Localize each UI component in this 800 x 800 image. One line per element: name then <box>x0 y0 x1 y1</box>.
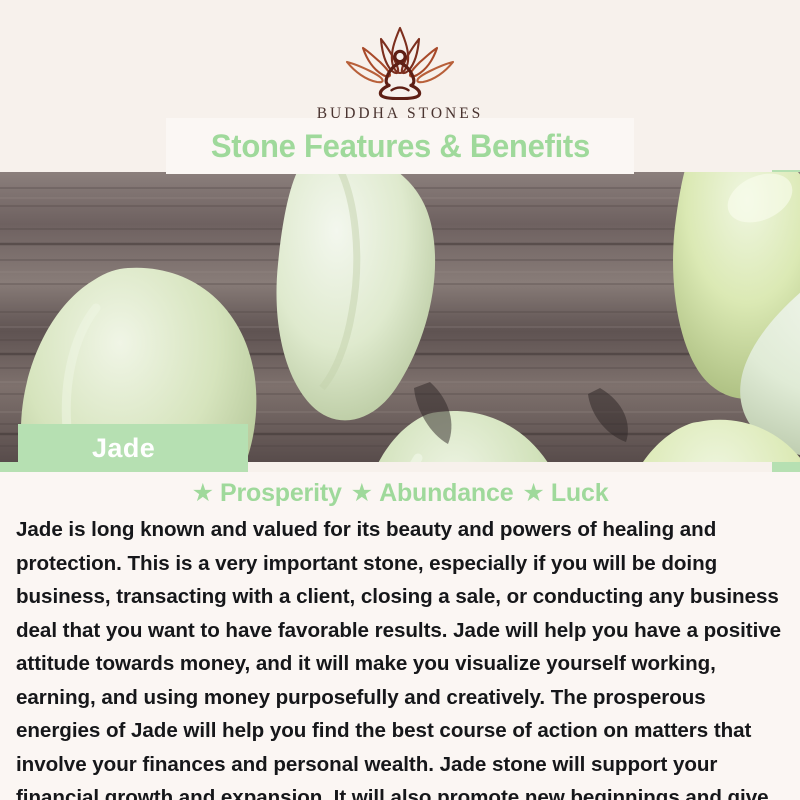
page-title: Stone Features & Benefits <box>210 128 589 165</box>
title-banner: Stone Features & Benefits <box>166 118 634 174</box>
stone-photo <box>0 172 800 462</box>
benefit-label: Luck <box>551 479 609 508</box>
benefit-label: Prosperity <box>220 479 342 508</box>
lotus-meditation-icon <box>325 22 475 100</box>
benefit-item: ★ Luck <box>522 479 608 508</box>
star-icon: ★ <box>192 481 214 506</box>
benefit-label: Abundance <box>379 479 513 508</box>
stone-description: Jade is long known and valued for its be… <box>16 513 786 800</box>
benefit-item: ★ Abundance <box>351 479 514 508</box>
star-icon: ★ <box>351 481 373 506</box>
content-section: ★ Prosperity ★ Abundance ★ Luck Jade is … <box>0 472 800 800</box>
benefit-item: ★ Prosperity <box>192 479 342 508</box>
star-icon: ★ <box>522 481 544 506</box>
stone-name: Jade <box>92 433 155 464</box>
infographic-page: BUDDHA STONES Stone Features & Benefits <box>0 0 800 800</box>
stone-name-banner: Jade <box>18 424 248 472</box>
benefits-list: ★ Prosperity ★ Abundance ★ Luck <box>0 476 800 510</box>
